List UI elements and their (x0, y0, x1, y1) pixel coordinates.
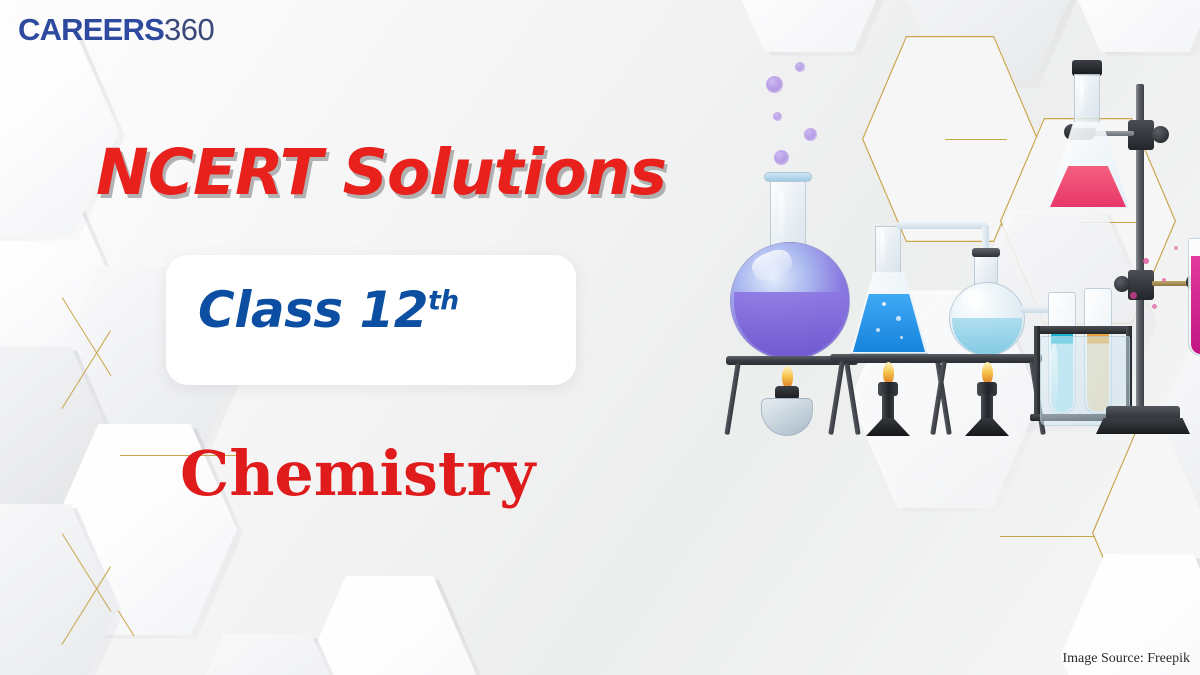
chemistry-lab-illustration (700, 0, 1200, 675)
logo-careers-text: CAREERS (18, 12, 164, 48)
title-subject-chemistry: Chemistry (180, 437, 535, 510)
poster-canvas: CAREERS 360 NCERT Solutions Class 12th C… (0, 0, 1200, 675)
title-ncert-solutions: NCERT Solutions (96, 140, 666, 206)
careers360-logo[interactable]: CAREERS 360 (18, 12, 214, 48)
image-source-credit: Image Source: Freepik (1062, 651, 1190, 667)
class-ordinal-suffix: th (428, 285, 459, 316)
headline-block: NCERT Solutions Class 12th Chemistry (0, 0, 700, 675)
flame-icon (982, 362, 993, 384)
class-number-text: Class 12 (198, 281, 428, 339)
title-class-level: Class 12th (198, 281, 459, 339)
flame-icon (782, 366, 793, 388)
flame-icon (883, 362, 894, 384)
logo-360-text: 360 (164, 12, 214, 48)
